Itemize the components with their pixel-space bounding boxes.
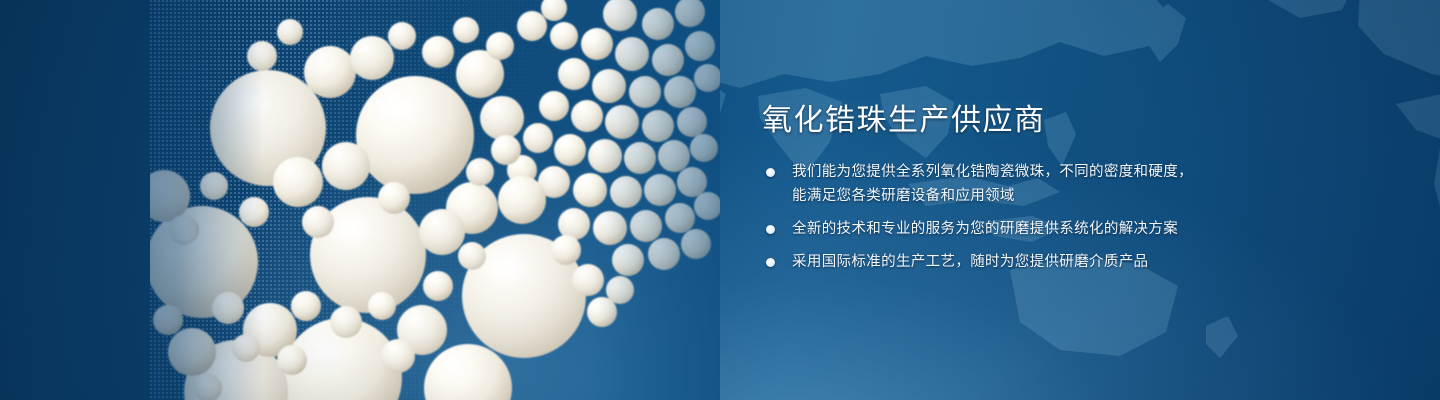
bullet-text: 全新的技术和专业的服务为您的研磨提供系统化的解决方案: [792, 217, 1232, 241]
bullet-text: 我们能为您提供全系列氧化锆陶瓷微珠，不同的密度和硬度， 能满足您各类研磨设备和应…: [792, 160, 1232, 208]
list-item: 全新的技术和专业的服务为您的研磨提供系统化的解决方案: [762, 217, 1232, 241]
bullet-line-2: 能满足您各类研磨设备和应用领域: [792, 184, 1232, 208]
bullet-dot-icon: [766, 225, 775, 234]
banner-bullet-list: 我们能为您提供全系列氧化锆陶瓷微珠，不同的密度和硬度， 能满足您各类研磨设备和应…: [762, 160, 1232, 274]
bullet-dot-icon: [766, 258, 775, 267]
banner-headline: 氧化锆珠生产供应商: [762, 104, 1232, 138]
bullet-text: 采用国际标准的生产工艺，随时为您提供研磨介质产品: [792, 250, 1232, 274]
bullet-line-1: 采用国际标准的生产工艺，随时为您提供研磨介质产品: [792, 254, 1148, 270]
bullet-dot-icon: [766, 168, 775, 177]
bullet-line-1: 我们能为您提供全系列氧化锆陶瓷微珠，不同的密度和硬度，: [792, 164, 1193, 180]
list-item: 采用国际标准的生产工艺，随时为您提供研磨介质产品: [762, 250, 1232, 274]
banner-copy: 氧化锆珠生产供应商 我们能为您提供全系列氧化锆陶瓷微珠，不同的密度和硬度， 能满…: [762, 104, 1232, 274]
bullet-line-1: 全新的技术和专业的服务为您的研磨提供系统化的解决方案: [792, 221, 1178, 237]
hero-banner: 氧化锆珠生产供应商 我们能为您提供全系列氧化锆陶瓷微珠，不同的密度和硬度， 能满…: [0, 0, 1440, 400]
list-item: 我们能为您提供全系列氧化锆陶瓷微珠，不同的密度和硬度， 能满足您各类研磨设备和应…: [762, 160, 1232, 208]
